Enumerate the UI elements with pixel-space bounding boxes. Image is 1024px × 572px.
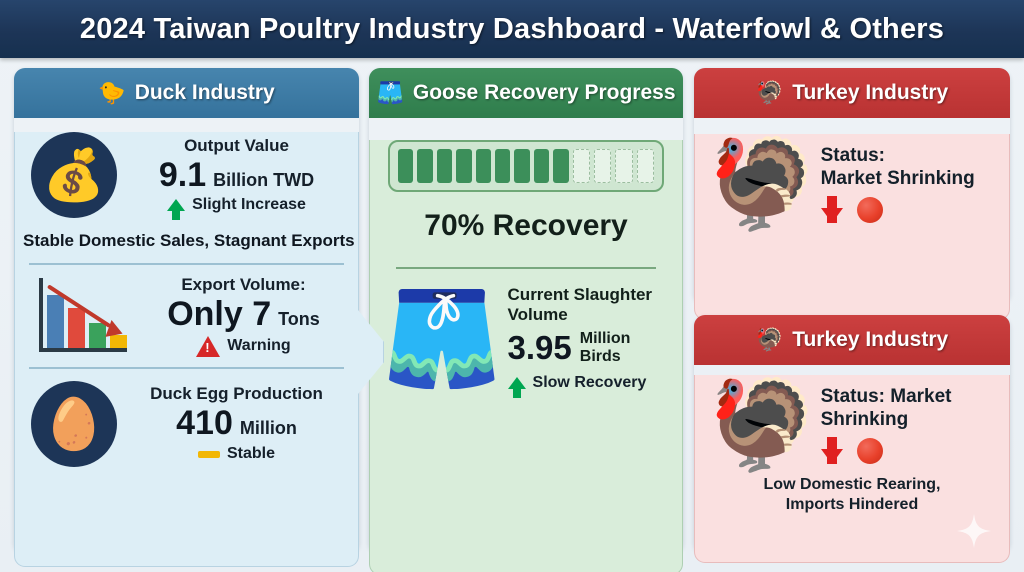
duck-output-value-row: 💰 Output Value 9.1 Billion TWD Slight In…	[15, 132, 358, 218]
turkey-panel-1-title: Turkey Industry	[792, 81, 948, 105]
progress-segment-13	[637, 149, 654, 183]
duck-output-unit: Billion TWD	[213, 170, 314, 191]
duck-divider-1	[29, 263, 344, 265]
duck-export-text: Export Volume: Only 7 Tons Warning	[145, 275, 342, 357]
progress-segment-3	[437, 149, 452, 183]
goose-recovery-panel: 🩳 Goose Recovery Progress 70% Recovery 🩳…	[369, 68, 683, 553]
goose-illustration-icon: 🩳	[382, 291, 502, 387]
turkey-illustration-icon: 🦃	[707, 140, 817, 228]
duck-output-trend-text: Slight Increase	[192, 196, 306, 214]
turkey-industry-panel-2: 🦃 Turkey Industry 🦃 Status: Market Shrin…	[694, 315, 1010, 553]
red-status-dot-icon	[857, 438, 883, 464]
goose-recovery-progress-bar	[388, 140, 664, 192]
duck-egg-number: 410	[176, 406, 233, 442]
progress-segment-9	[553, 149, 568, 183]
turkey-icon: 🦃	[756, 329, 783, 351]
turkey-industry-panel-1: 🦃 Turkey Industry 🦃 Status: Market Shrin…	[694, 68, 1010, 304]
duck-output-label: Output Value	[184, 136, 289, 156]
turkey-1-status-line2: Market Shrinking	[821, 168, 997, 191]
duck-export-number: Only 7	[167, 297, 271, 333]
duck-egg-trend-text: Stable	[227, 445, 275, 463]
progress-segment-12	[615, 149, 632, 183]
duck-export-trend: Warning	[196, 336, 290, 357]
turkey-2-note-line1: Low Domestic Rearing,	[695, 475, 1009, 495]
duck-export-unit: Tons	[278, 309, 320, 330]
duck-export-value: Only 7 Tons	[167, 297, 320, 333]
goose-slaughter-trend: Slow Recovery	[508, 374, 670, 392]
goose-divider	[396, 267, 656, 269]
goose-slaughter-value: 3.95 Million Birds	[508, 329, 670, 367]
goose-slaughter-number: 3.95	[508, 329, 572, 367]
turkey-2-status-row: 🦃 Status: Market Shrinking	[695, 375, 1009, 469]
arrow-down-icon	[821, 449, 843, 464]
progress-segment-8	[534, 149, 549, 183]
turkey-2-status-line2: Shrinking	[821, 409, 997, 432]
progress-segment-10	[573, 149, 590, 183]
duck-export-volume-row: Export Volume: Only 7 Tons Warning	[15, 275, 358, 357]
turkey-2-note-line2: Imports Hindered	[695, 495, 1009, 515]
progress-segment-7	[514, 149, 529, 183]
goose-icon: 🩳	[376, 82, 403, 104]
egg-icon: 🥚	[31, 381, 117, 467]
turkey-panel-2-header: 🦃 Turkey Industry	[694, 315, 1010, 365]
duck-output-value: 9.1 Billion TWD	[159, 158, 314, 194]
turkey-2-status-line1: Status: Market	[821, 386, 997, 409]
duck-summary-banner: Stable Domestic Sales, Stagnant Exports	[15, 231, 358, 251]
dashboard-root: 2024 Taiwan Poultry Industry Dashboard -…	[0, 0, 1024, 572]
goose-slaughter-text: Current Slaughter Volume 3.95 Million Bi…	[508, 285, 670, 392]
duck-egg-production-row: 🥚 Duck Egg Production 410 Million Stable	[15, 381, 358, 467]
duck-panel-header: 🐤 Duck Industry	[14, 68, 359, 118]
turkey-panel-2-title: Turkey Industry	[792, 328, 948, 352]
goose-slaughter-row: 🩳 Current Slaughter Volume 3.95 Million …	[370, 285, 682, 392]
turkey-1-indicators	[821, 196, 997, 223]
goose-slaughter-unit-line2: Birds	[580, 348, 621, 365]
goose-slaughter-unit: Million Birds	[580, 330, 631, 366]
turkey-1-status-text: Status: Market Shrinking	[821, 145, 997, 224]
progress-segment-4	[456, 149, 471, 183]
warning-triangle-icon	[196, 336, 220, 357]
goose-panel-title: Goose Recovery Progress	[413, 81, 676, 105]
duck-egg-value: 410 Million	[176, 406, 297, 442]
goose-panel-header: 🩳 Goose Recovery Progress	[369, 68, 683, 118]
turkey-1-status-line1: Status:	[821, 145, 997, 168]
duck-output-text: Output Value 9.1 Billion TWD Slight Incr…	[131, 136, 342, 215]
turkey-panel-1-body: 🦃 Status: Market Shrinking	[694, 134, 1010, 320]
flat-dash-icon	[198, 451, 220, 458]
goose-slaughter-label-line2: Volume	[508, 305, 670, 325]
goose-slaughter-trend-text: Slow Recovery	[533, 374, 647, 392]
turkey-panel-2-body: 🦃 Status: Market Shrinking Low Domestic …	[694, 375, 1010, 563]
turkey-2-indicators	[821, 437, 997, 464]
duck-output-trend: Slight Increase	[167, 196, 306, 214]
turkey-2-status-text: Status: Market Shrinking	[821, 386, 997, 465]
duck-panel-title: Duck Industry	[135, 81, 275, 105]
duck-egg-text: Duck Egg Production 410 Million Stable	[131, 384, 342, 463]
turkey-illustration-icon: 🦃	[707, 381, 817, 469]
turkey-1-status-row: 🦃 Status: Market Shrinking	[695, 134, 1009, 228]
goose-panel-body: 70% Recovery 🩳 Current Slaughter Volume …	[369, 140, 683, 572]
arrow-up-icon	[508, 377, 526, 389]
turkey-icon: 🦃	[756, 82, 783, 104]
sparkle-decoration-icon	[957, 514, 991, 548]
arrow-down-icon	[821, 208, 843, 223]
dashboard-title-bar: 2024 Taiwan Poultry Industry Dashboard -…	[0, 0, 1024, 58]
duck-divider-2	[29, 367, 344, 369]
goose-recovery-percent-label: 70% Recovery	[370, 209, 682, 243]
turkey-panel-1-header: 🦃 Turkey Industry	[694, 68, 1010, 118]
progress-segment-2	[417, 149, 432, 183]
money-bag-icon: 💰	[31, 132, 117, 218]
goose-slaughter-unit-line1: Million	[580, 330, 631, 347]
duck-output-number: 9.1	[159, 158, 206, 194]
duck-export-trend-text: Warning	[227, 337, 290, 355]
progress-segment-6	[495, 149, 510, 183]
red-status-dot-icon	[857, 197, 883, 223]
progress-segment-5	[476, 149, 491, 183]
duck-egg-trend: Stable	[198, 445, 275, 463]
progress-segment-11	[594, 149, 611, 183]
duck-egg-label: Duck Egg Production	[150, 384, 323, 404]
declining-bar-chart-icon	[31, 276, 131, 356]
goose-slaughter-label-line1: Current Slaughter	[508, 285, 670, 305]
arrow-up-icon	[167, 199, 185, 211]
progress-segment-1	[398, 149, 413, 183]
duck-export-label: Export Volume:	[181, 275, 305, 295]
page-title: 2024 Taiwan Poultry Industry Dashboard -…	[80, 13, 944, 46]
duck-egg-unit: Million	[240, 418, 297, 439]
duck-icon: 🐤	[98, 82, 125, 104]
duck-panel-body: 💰 Output Value 9.1 Billion TWD Slight In…	[14, 132, 359, 567]
duck-industry-panel: 🐤 Duck Industry 💰 Output Value 9.1 Billi…	[14, 68, 359, 553]
